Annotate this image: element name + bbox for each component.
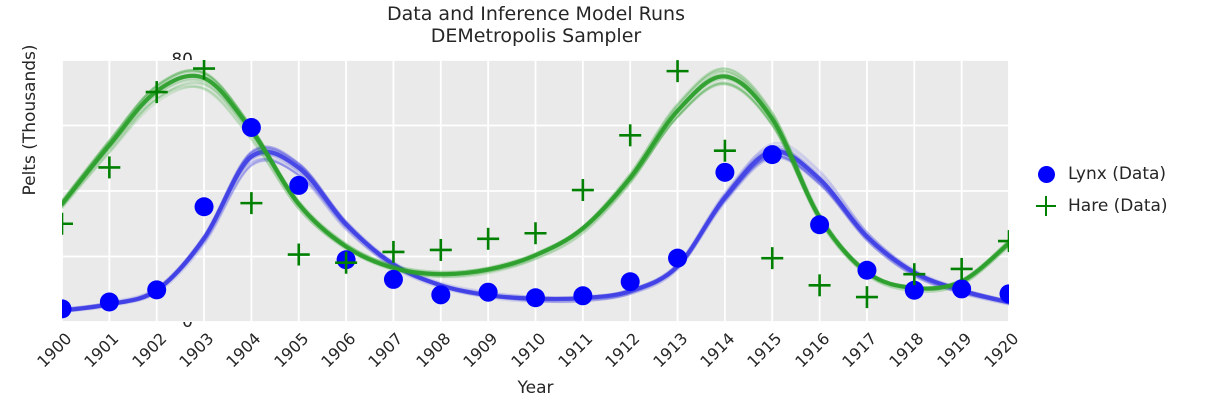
legend-label-lynx: Lynx (Data)	[1068, 164, 1166, 184]
chart-legend: Lynx (Data) Hare (Data)	[1024, 158, 1211, 222]
legend-item-hare[interactable]: Hare (Data)	[1024, 190, 1211, 222]
legend-item-lynx[interactable]: Lynx (Data)	[1024, 158, 1211, 190]
x-axis-label: Year	[62, 378, 1009, 398]
legend-label-hare: Hare (Data)	[1068, 196, 1168, 216]
figure: Data and Inference Model Runs DEMetropol…	[0, 0, 1211, 411]
plus-marker-icon	[1024, 196, 1068, 216]
filled-circle-marker-icon	[1024, 166, 1068, 183]
